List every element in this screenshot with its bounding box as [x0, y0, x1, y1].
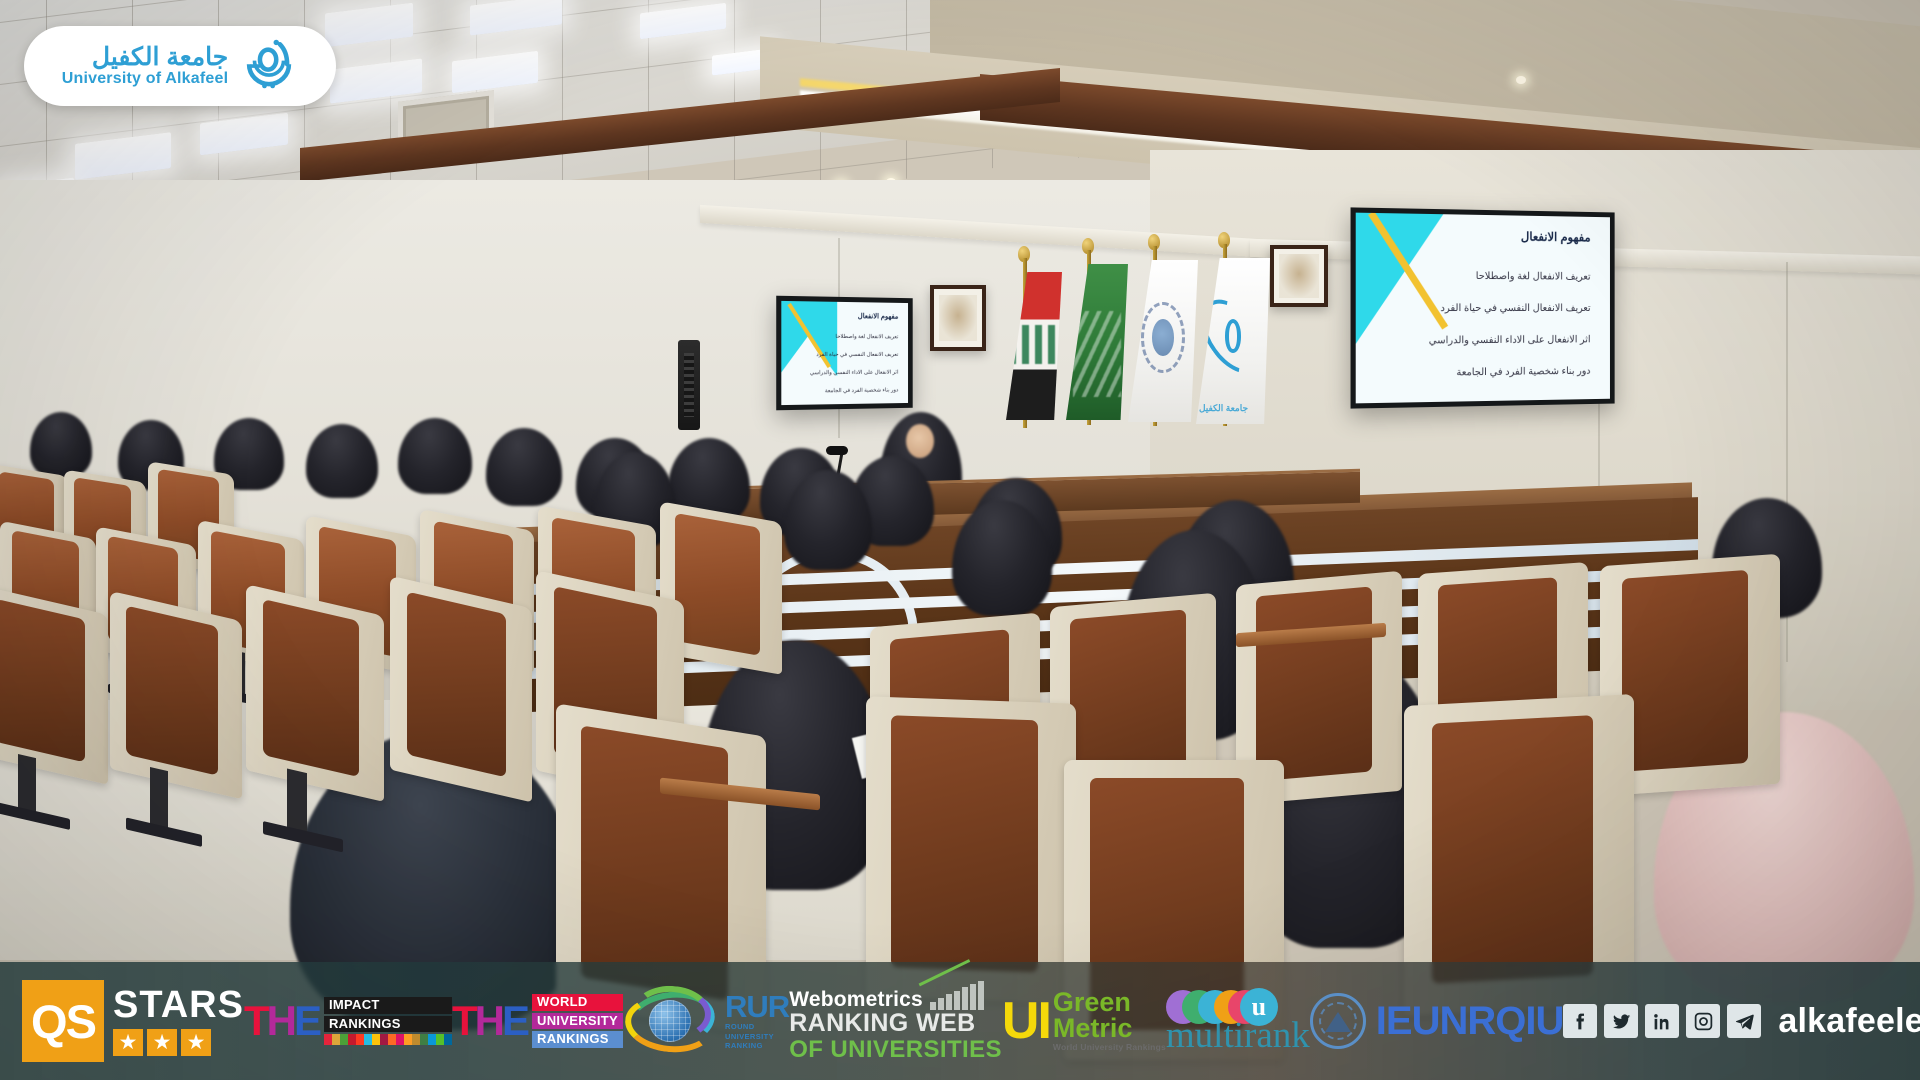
slide-title-large: مفهوم الانفعال	[1521, 230, 1591, 245]
portrait-art	[1279, 254, 1319, 297]
ui-mark: UI	[1002, 1000, 1050, 1043]
multirank-u-mark: u	[1240, 988, 1278, 1026]
star-icon: ★	[147, 1029, 177, 1056]
auditorium-seat-foreground	[866, 696, 1076, 1003]
nrqiu-logo[interactable]: NRQIU	[1439, 1001, 1563, 1041]
rur-sub-3: RANKING	[725, 1041, 789, 1050]
qs-mark: QS	[31, 994, 95, 1049]
slide-line-small: تعريف الانفعال لغة واصطلاحا	[836, 334, 899, 340]
auditorium-seat	[390, 576, 532, 803]
framed-portrait	[930, 285, 986, 351]
instagram-icon[interactable]	[1686, 1004, 1720, 1038]
facebook-icon[interactable]	[1563, 1004, 1597, 1038]
university-logo-badge: جامعة الكفيل University of Alkafeel	[24, 26, 336, 106]
ieu-seal-icon	[1310, 993, 1366, 1049]
framed-portrait	[1270, 245, 1328, 307]
alkafeel-monogram-icon	[240, 37, 298, 95]
multirank-wordmark: multirank	[1166, 1020, 1310, 1051]
logo-name-arabic: جامعة الكفيل	[62, 44, 229, 70]
monogram-drop	[1225, 319, 1241, 352]
qs-badge: QS	[22, 980, 104, 1062]
webometrics-line-2: RANKING WEB	[789, 1010, 1002, 1036]
presentation-screen-large: مفهوم الانفعال تعريف الانفعال لغة واصطلا…	[1351, 207, 1615, 408]
green-flag-inscription	[1073, 311, 1120, 397]
presentation-screen-small: مفهوم الانفعال تعريف الانفعال لغة واصطلا…	[776, 296, 912, 411]
slide-corner-cyan	[1356, 213, 1444, 344]
recessed-spotlight	[1516, 76, 1526, 84]
tag-impact: IMPACT	[324, 997, 452, 1014]
growth-chart-icon	[928, 980, 990, 1010]
star-icon: ★	[181, 1029, 211, 1056]
the-impact-rankings-logo[interactable]: THE IMPACT RANKINGS	[244, 997, 452, 1046]
rur-mark: RUR	[725, 991, 789, 1022]
alkafeel-monogram-icon	[1208, 295, 1258, 378]
flag-university-name: جامعة الكفيل	[1199, 403, 1248, 414]
qs-star-rating: ★ ★ ★	[113, 1029, 244, 1056]
slide-line-large: دور بناء شخصية الفرد في الجامعة	[1456, 366, 1590, 379]
the-world-university-rankings-logo[interactable]: THE WORLD UNIVERSITY RANKINGS	[452, 994, 623, 1049]
ui-greenmetric-logo[interactable]: UI Green Metric World University Ranking…	[1002, 990, 1166, 1051]
twitter-icon[interactable]	[1604, 1004, 1638, 1038]
rankings-footer-bar: QS STARS ★ ★ ★ THE IMPACT RANKINGS	[0, 962, 1920, 1080]
speaker-face	[906, 424, 934, 458]
slide-line-large: تعريف الانفعال النفسي في حياة الفرد	[1440, 303, 1590, 314]
rur-round-university-ranking-logo[interactable]: RUR ROUND UNIVERSITY RANKING	[623, 990, 789, 1052]
webometrics-ranking-web-logo[interactable]: Webometrics RANKING WEB OF UNIVERSITIES	[789, 980, 1002, 1061]
slide-line-large: اثر الانفعال على الاداء النفسي والدراسي	[1429, 334, 1591, 346]
greenmetric-subtitle: World University Rankings	[1053, 1042, 1166, 1052]
tag-world: WORLD	[532, 994, 623, 1011]
tag-university: UNIVERSITY	[532, 1013, 623, 1030]
qs-stars-logo[interactable]: QS STARS ★ ★ ★	[22, 980, 244, 1062]
webometrics-wordmark: Webometrics	[789, 989, 923, 1010]
impact-tags: IMPACT RANKINGS	[324, 997, 452, 1046]
multirank-circles-icon: u	[1166, 990, 1278, 1024]
slide-line-small: اثر الانفعال على الاداء النفسي والدراسي	[810, 370, 898, 377]
wall-speaker	[678, 340, 700, 430]
event-photo: مفهوم الانفعال تعريف الانفعال لغة واصطلا…	[0, 0, 1920, 1080]
qs-stars-label: STARS	[113, 986, 244, 1024]
institution-emblem	[1141, 302, 1186, 373]
ieu-logo[interactable]: IEU	[1310, 993, 1440, 1049]
star-icon: ★	[113, 1029, 143, 1056]
slide-title-small: مفهوم الانفعال	[858, 312, 898, 320]
sdg-color-bar	[324, 1034, 452, 1045]
linkedin-icon[interactable]	[1645, 1004, 1679, 1038]
screenshot-root: مفهوم الانفعال تعريف الانفعال لغة واصطلا…	[0, 0, 1920, 1080]
webometrics-line-3: OF UNIVERSITIES	[789, 1037, 1002, 1062]
logo-name-english: University of Alkafeel	[62, 71, 229, 88]
portrait-art	[939, 295, 977, 341]
u-multirank-logo[interactable]: u multirank	[1166, 990, 1310, 1051]
wur-tags: WORLD UNIVERSITY RANKINGS	[532, 994, 623, 1049]
slide-line-small: تعريف الانفعال النفسي في حياة الفرد	[816, 352, 898, 358]
tag-rankings: RANKINGS	[324, 1016, 452, 1033]
tag-rankings: RANKINGS	[532, 1031, 623, 1048]
nrqiu-label: NRQIU	[1439, 1001, 1563, 1041]
slide-line-large: تعريف الانفعال لغة واصطلاحا	[1476, 271, 1591, 283]
social-handle: alkafeeleduiq	[1778, 1002, 1920, 1041]
auditorium-seat	[110, 591, 242, 799]
microphone-head	[826, 446, 848, 455]
ieu-label: IEU	[1376, 1001, 1440, 1041]
rur-sub-2: UNIVERSITY	[725, 1032, 789, 1041]
greenmetric-line-2: Metric	[1053, 1016, 1166, 1042]
telegram-icon[interactable]	[1727, 1004, 1761, 1038]
slide-line-small: دور بناء شخصية الفرد في الجامعة	[825, 387, 898, 394]
social-links: alkafeeleduiq	[1563, 1002, 1920, 1041]
auditorium-seat	[246, 584, 384, 802]
auditorium-seat	[0, 585, 108, 785]
rur-eye-icon	[623, 990, 719, 1052]
